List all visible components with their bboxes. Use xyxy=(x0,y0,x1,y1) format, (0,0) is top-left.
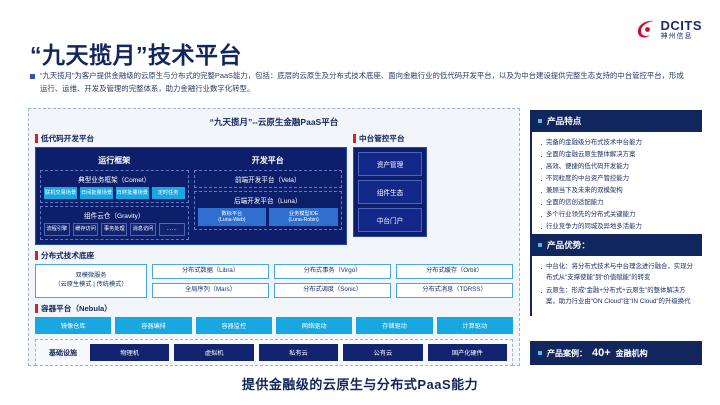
container-item[interactable]: 容器监控 xyxy=(196,317,272,334)
product-cases-value: 40+ xyxy=(592,347,611,359)
chip-item[interactable]: …… xyxy=(159,223,185,237)
product-features-body: 完备的金融级分布式技术中台能力 全面的金融云原生整体解决方案 高效、便捷的低代码… xyxy=(530,132,702,241)
feature-item: 多个行业领先的分布式关键能力 xyxy=(539,210,698,221)
distributed-base-block: 分布式技术底座 双模微服务 （云原生模式 | 传统模式） 分布式数据（Libra… xyxy=(35,250,513,298)
backend-subitem-code: (Luna-Web) xyxy=(218,217,245,223)
advantage-item: 中台化：将分布式技术与中台理念进行融合，实现分布式从“支撑使能”到“价值赋能”的… xyxy=(539,262,698,283)
product-features-header: 产品特点 xyxy=(530,110,702,132)
page-title: “九天揽月”技术平台 xyxy=(30,36,242,70)
container-item[interactable]: 容器编排 xyxy=(115,317,191,334)
lowcode-platform-block: 低代码开发平台 运行框架 典型业务框架（Comet） 联机交易场景 日间批量场景… xyxy=(35,133,347,245)
chip-item[interactable]: 日终批量场景 xyxy=(116,187,149,199)
container-item[interactable]: 计算驱动 xyxy=(437,317,513,334)
feature-item: 兼顾当下及未来的双模架构 xyxy=(539,186,698,197)
container-item[interactable]: 镜像仓库 xyxy=(35,317,111,334)
frontend-platform-item[interactable]: 前端开发平台（Vela） xyxy=(194,170,343,188)
dcits-swirl-logo-icon xyxy=(635,18,657,40)
dual-mode-line2: （云原生模式 | 传统模式） xyxy=(54,281,127,288)
component-cloud-title: 组件云仓（Gravity） xyxy=(44,210,185,220)
brand-logo: DCITS 神州信息 xyxy=(635,18,703,40)
product-features-panel: 产品特点 完备的金融级分布式技术中台能力 全面的金融云原生整体解决方案 高效、便… xyxy=(530,110,702,241)
base-column: 分布式数据（Libra） 全局序列（Mars） xyxy=(152,264,269,298)
red-bar-icon xyxy=(353,134,356,143)
product-features-title: 产品特点 xyxy=(547,115,581,127)
feature-item: 全面的金融云原生整体解决方案 xyxy=(539,150,698,161)
control-item[interactable]: 组件生态 xyxy=(358,180,422,204)
chip-item[interactable]: 缓存访问 xyxy=(73,223,99,237)
architecture-diagram: “九天揽月”--云原生金融PaaS平台 低代码开发平台 运行框架 典型业务框架（… xyxy=(28,108,520,366)
development-platform-title: 开发平台 xyxy=(194,152,343,170)
intro-paragraph: “九天揽月”为客户提供金融级的云原生与分布式的完整PaaS能力，包括：底层的云原… xyxy=(30,70,690,96)
control-item[interactable]: 资产管理 xyxy=(358,152,422,176)
infrastructure-label: 基础设施 xyxy=(41,348,85,358)
feature-item: 完备的金融级分布式技术中台能力 xyxy=(539,138,698,149)
dual-mode-microservice-cell[interactable]: 双模微服务 （云原生模式 | 传统模式） xyxy=(35,264,147,298)
infrastructure-item[interactable]: 私有云 xyxy=(259,344,338,361)
bullet-square-icon xyxy=(538,351,542,355)
bullet-square-icon xyxy=(30,74,35,79)
feature-item: 行业竞争力的同城及异地多活能力 xyxy=(539,222,698,233)
advantage-item: 云原生：形成“金融+分布式+云原生”的整体解决方案，助力行业由“ON Cloud… xyxy=(539,286,698,307)
chip-item[interactable]: 定时任务 xyxy=(152,187,185,199)
base-section-head: 分布式技术底座 xyxy=(35,250,513,261)
base-cell[interactable]: 分布式缓存（Orbit） xyxy=(396,264,513,279)
footer-tagline: 提供金融级的云原生与分布式PaaS能力 xyxy=(0,374,720,393)
product-advantages-header: 产品优势： xyxy=(530,234,702,256)
base-column: 分布式缓存（Orbit） 分布式消息（TDRSS） xyxy=(396,264,513,298)
control-section-head: 中台管控平台 xyxy=(353,133,427,144)
infrastructure-item[interactable]: 国产化硬件 xyxy=(428,344,507,361)
container-item[interactable]: 网络驱动 xyxy=(276,317,352,334)
backend-subitem[interactable]: 业务模型IDE (Luna-Robin) xyxy=(269,208,338,226)
brand-name: DCITS xyxy=(661,19,703,32)
infrastructure-item[interactable]: 公有云 xyxy=(343,344,422,361)
feature-item: 全面的信创适配能力 xyxy=(539,198,698,209)
product-cases-label: 产品案例： xyxy=(547,348,587,359)
diagram-upper-row: 低代码开发平台 运行框架 典型业务框架（Comet） 联机交易场景 日间批量场景… xyxy=(35,133,513,245)
backend-subitem[interactable]: 数标平台 (Luna-Web) xyxy=(198,208,267,226)
chip-item[interactable]: 消息访问 xyxy=(130,223,156,237)
base-cell[interactable]: 分布式调度（Sonic） xyxy=(274,283,391,298)
container-platform-block: 容器平台（Nebula） 镜像仓库 容器编排 容器监控 网络驱动 存储驱动 计算… xyxy=(35,303,513,334)
feature-item: 高效、便捷的低代码开发能力 xyxy=(539,162,698,173)
red-bar-icon xyxy=(35,251,38,260)
base-section-label: 分布式技术底座 xyxy=(41,250,94,261)
business-framework-title: 典型业务框架（Comet） xyxy=(44,174,185,184)
feature-item: 不同粒度的中台资产管控能力 xyxy=(539,174,698,185)
chip-item[interactable]: 事务处理 xyxy=(101,223,127,237)
control-item[interactable]: 中台门户 xyxy=(358,208,422,232)
infrastructure-item[interactable]: 物理机 xyxy=(90,344,169,361)
container-section-label: 容器平台（Nebula） xyxy=(41,303,112,314)
base-column: 分布式事务（Virgo） 分布式调度（Sonic） xyxy=(274,264,391,298)
development-platform-column: 开发平台 前端开发平台（Vela） 后端开发平台（Luna） 数标平台 (Lun… xyxy=(194,152,343,240)
lowcode-section-head: 低代码开发平台 xyxy=(35,133,347,144)
base-cell[interactable]: 全局序列（Mars） xyxy=(152,283,269,298)
control-platform-block: 中台管控平台 资产管理 组件生态 中台门户 xyxy=(353,133,427,245)
backend-platform-title: 后端开发平台（Luna） xyxy=(198,195,339,205)
business-framework-box: 典型业务框架（Comet） 联机交易场景 日间批量场景 日终批量场景 定时任务 xyxy=(40,170,189,203)
base-cell[interactable]: 分布式消息（TDRSS） xyxy=(396,283,513,298)
chip-item[interactable]: 流程引擎 xyxy=(44,223,70,237)
backend-platform-box: 后端开发平台（Luna） 数标平台 (Luna-Web) 业务模型IDE (Lu… xyxy=(194,191,343,230)
backend-subitem-name: 数标平台 xyxy=(221,211,242,217)
bullet-square-icon xyxy=(538,243,542,247)
infrastructure-block: 基础设施 物理机 虚拟机 私有云 公有云 国产化硬件 xyxy=(35,339,513,366)
container-item[interactable]: 存储驱动 xyxy=(356,317,432,334)
product-advantages-title: 产品优势： xyxy=(547,239,590,251)
product-cases-panel: 产品案例： 40+ 金融机构 xyxy=(530,341,702,365)
brand-name-cn: 神州信息 xyxy=(661,33,703,40)
runtime-framework-column: 运行框架 典型业务框架（Comet） 联机交易场景 日间批量场景 日终批量场景 … xyxy=(40,152,189,240)
product-advantages-body: 中台化：将分布式技术与中台理念进行融合，实现分布式从“支撑使能”到“价值赋能”的… xyxy=(530,256,702,316)
product-cases-unit: 金融机构 xyxy=(616,348,648,359)
backend-subitem-name: 业务模型IDE xyxy=(289,211,318,217)
red-bar-icon xyxy=(35,304,38,313)
product-cases-badge: 产品案例： 40+ 金融机构 xyxy=(530,341,702,365)
product-advantages-panel: 产品优势： 中台化：将分布式技术与中台理念进行融合，实现分布式从“支撑使能”到“… xyxy=(530,234,702,316)
container-section-head: 容器平台（Nebula） xyxy=(35,303,513,314)
infrastructure-item[interactable]: 虚拟机 xyxy=(174,344,253,361)
base-cell[interactable]: 分布式事务（Virgo） xyxy=(274,264,391,279)
top-divider xyxy=(0,0,720,3)
base-cell[interactable]: 分布式数据（Libra） xyxy=(152,264,269,279)
bullet-square-icon xyxy=(538,119,542,123)
component-cloud-box: 组件云仓（Gravity） 流程引擎 缓存访问 事务处理 消息访问 …… xyxy=(40,206,189,241)
dual-mode-line1: 双模微服务 xyxy=(76,272,107,279)
backend-subitem-code: (Luna-Robin) xyxy=(288,217,318,223)
chip-item[interactable]: 联机交易场景 xyxy=(44,187,77,199)
lowcode-section-label: 低代码开发平台 xyxy=(41,133,94,144)
intro-text: “九天揽月”为客户提供金融级的云原生与分布式的完整PaaS能力，包括：底层的云原… xyxy=(40,70,690,96)
control-section-label: 中台管控平台 xyxy=(359,133,405,144)
diagram-title: “九天揽月”--云原生金融PaaS平台 xyxy=(35,116,513,128)
red-bar-icon xyxy=(35,134,38,143)
runtime-framework-title: 运行框架 xyxy=(40,152,189,170)
chip-item[interactable]: 日间批量场景 xyxy=(80,187,113,199)
